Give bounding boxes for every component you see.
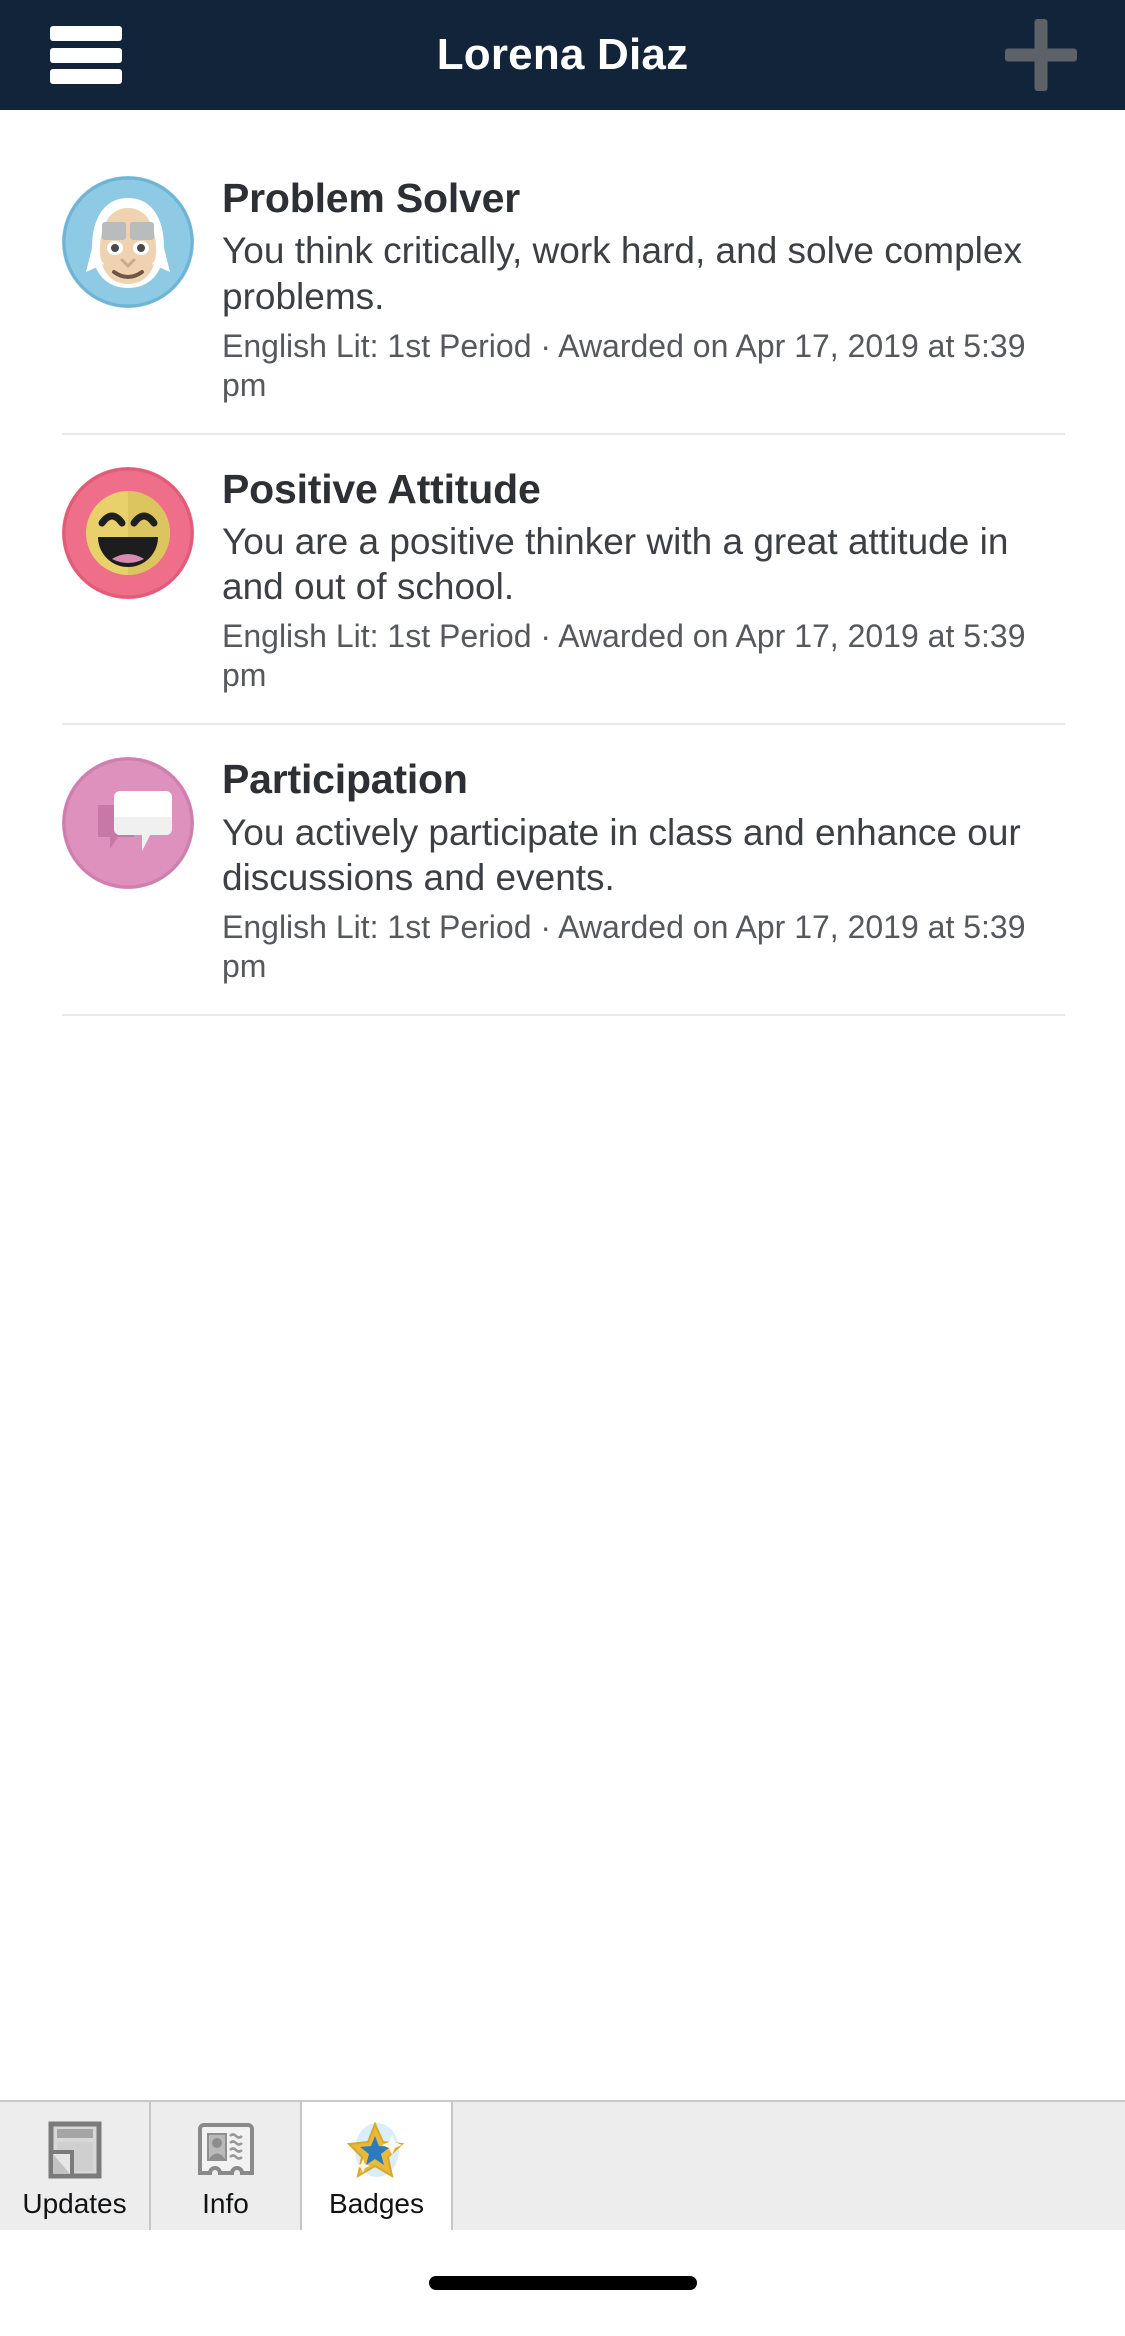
grinning-face-emoji-icon xyxy=(62,467,194,599)
badge-meta: English Lit: 1st Period · Awarded on Apr… xyxy=(222,327,1065,405)
list-divider xyxy=(62,723,1065,725)
tab-info[interactable]: Info xyxy=(151,2102,302,2230)
window-document-icon xyxy=(39,2114,111,2186)
app-root: Lorena Diaz xyxy=(0,0,1125,2336)
tab-updates[interactable]: Updates xyxy=(0,2102,151,2230)
badge-icon-container xyxy=(62,753,194,889)
badge-description: You are a positive thinker with a great … xyxy=(222,519,1065,609)
plus-icon[interactable] xyxy=(1005,19,1077,91)
tab-empty-area xyxy=(453,2102,1125,2230)
badge-icon-container xyxy=(62,172,194,308)
bottom-tab-bar: Updates Info xyxy=(0,2100,1125,2230)
list-divider xyxy=(62,433,1065,435)
badge-meta: English Lit: 1st Period · Awarded on Apr… xyxy=(222,617,1065,695)
list-item[interactable]: Positive Attitude You are a positive thi… xyxy=(0,463,1125,696)
badge-text-block: Positive Attitude You are a positive thi… xyxy=(194,463,1065,696)
badge-description: You think critically, work hard, and sol… xyxy=(222,228,1065,318)
home-indicator-area xyxy=(0,2230,1125,2336)
badge-description: You actively participate in class and en… xyxy=(222,810,1065,900)
tab-label: Badges xyxy=(329,2188,424,2220)
tab-badges[interactable]: Badges xyxy=(302,2102,453,2230)
tab-label: Updates xyxy=(22,2188,126,2220)
gold-star-icon xyxy=(341,2114,413,2186)
tab-label: Info xyxy=(202,2188,249,2220)
list-item[interactable]: Problem Solver You think critically, wor… xyxy=(0,172,1125,405)
badge-text-block: Problem Solver You think critically, wor… xyxy=(194,172,1065,405)
badge-title: Positive Attitude xyxy=(222,465,1065,513)
badge-title: Participation xyxy=(222,755,1065,803)
badge-list: Problem Solver You think critically, wor… xyxy=(0,110,1125,2100)
badge-meta: English Lit: 1st Period · Awarded on Apr… xyxy=(222,908,1065,986)
page-title: Lorena Diaz xyxy=(0,30,1125,80)
badge-text-block: Participation You actively participate i… xyxy=(194,753,1065,986)
home-indicator[interactable] xyxy=(429,2276,697,2290)
id-card-icon xyxy=(190,2114,262,2186)
badge-title: Problem Solver xyxy=(222,174,1065,222)
list-item[interactable]: Participation You actively participate i… xyxy=(0,753,1125,986)
speech-bubbles-icon xyxy=(62,757,194,889)
badge-icon-container xyxy=(62,463,194,599)
app-header: Lorena Diaz xyxy=(0,0,1125,110)
list-divider xyxy=(62,1014,1065,1016)
older-person-emoji-icon xyxy=(62,176,194,308)
